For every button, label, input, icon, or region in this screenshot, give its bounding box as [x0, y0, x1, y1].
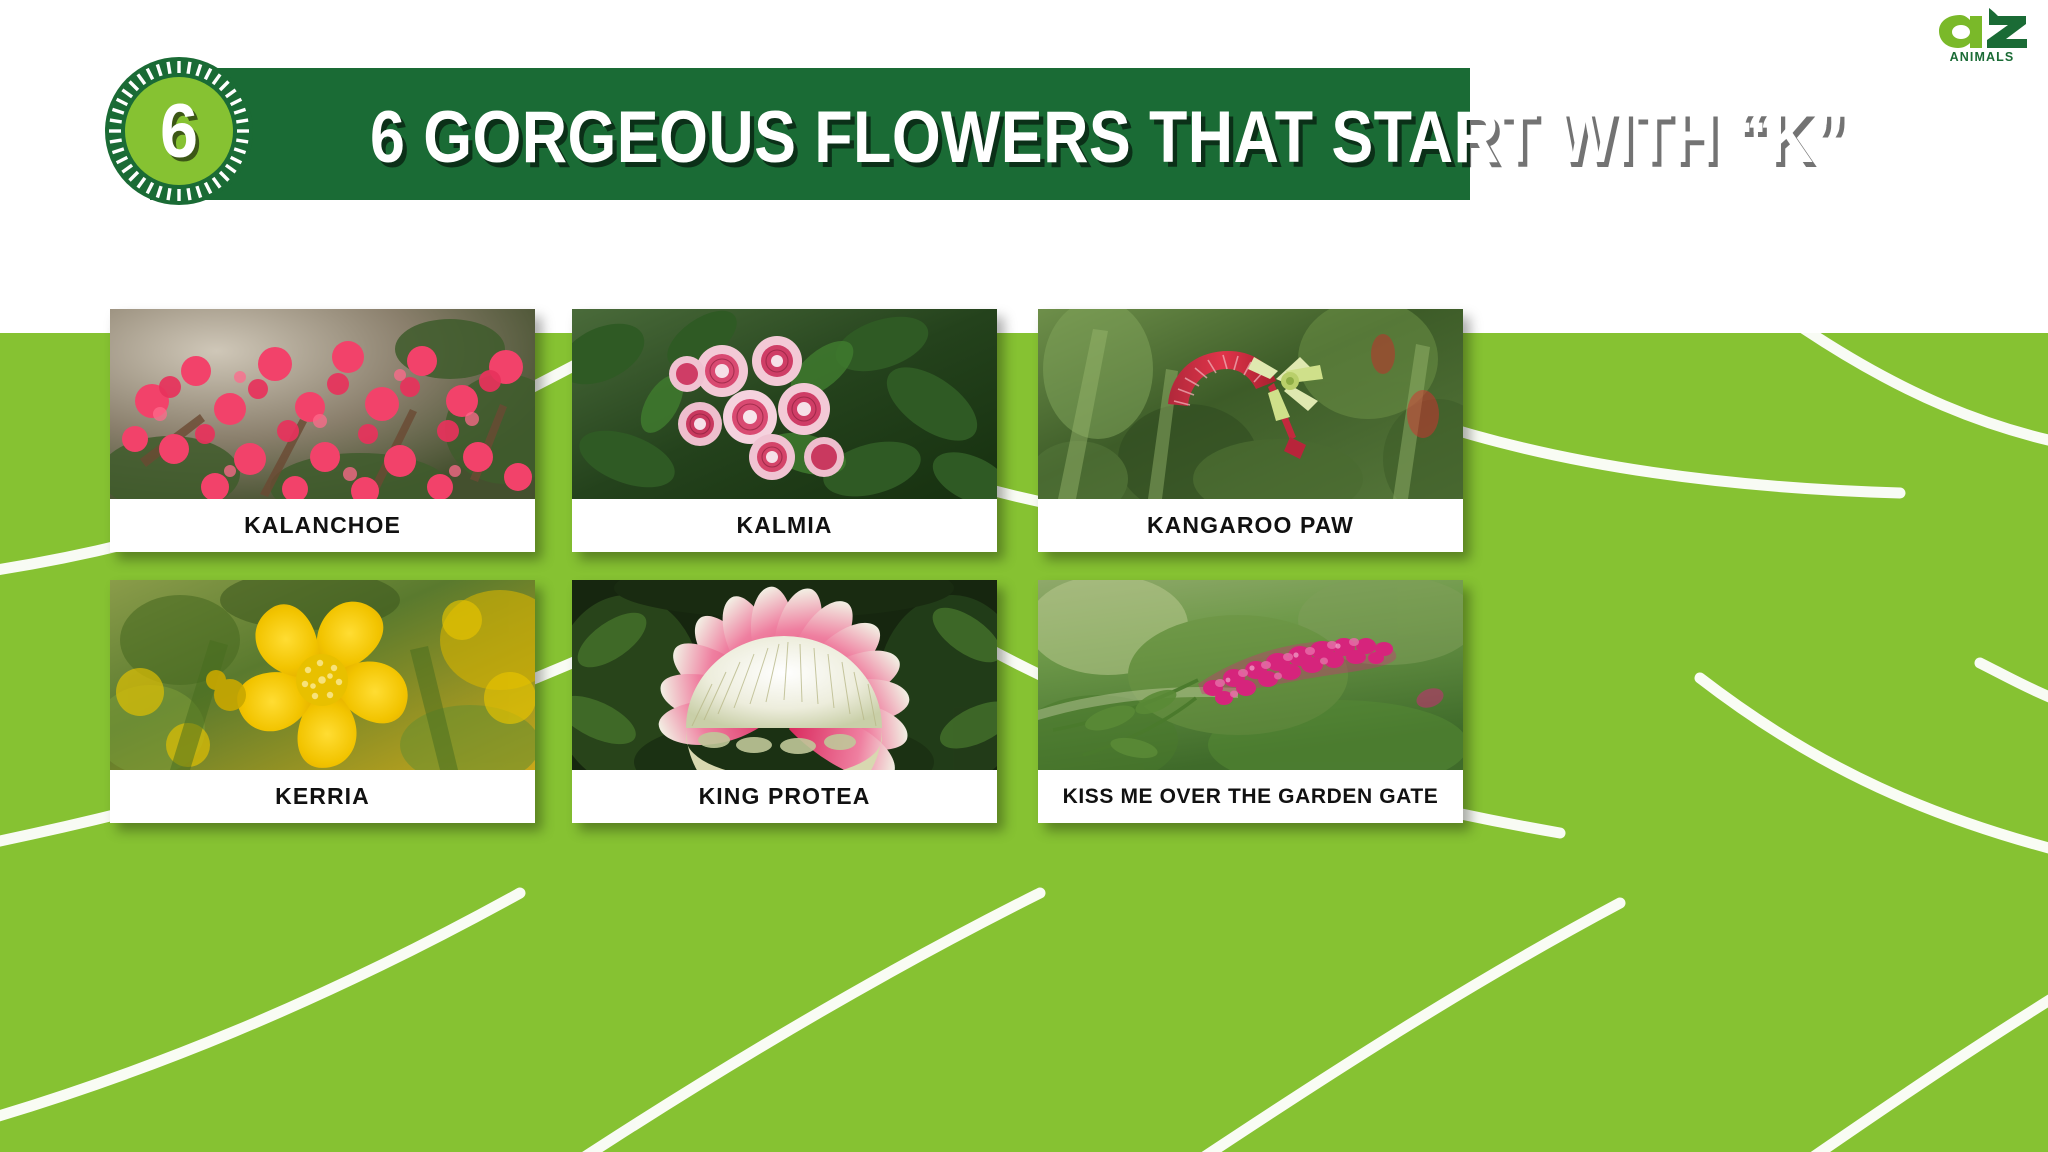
card-label-band: KERRIA — [110, 770, 535, 823]
king-protea-photo — [572, 580, 997, 770]
flower-card-kerria[interactable]: KERRIA — [110, 580, 535, 823]
kerria-photo — [110, 580, 535, 770]
flower-name-label: KALMIA — [736, 512, 832, 539]
flower-name-label: KING PROTEA — [699, 783, 871, 810]
infographic-root: 6 GORGEOUS FLOWERS THAT START WITH “K” — [0, 0, 2048, 1152]
flower-card-king-protea[interactable]: KING PROTEA — [572, 580, 997, 823]
az-logo-icon — [1930, 6, 2034, 52]
flower-name-label: KALANCHOE — [244, 512, 401, 539]
flower-card-kalmia[interactable]: KALMIA — [572, 309, 997, 552]
brand-logo[interactable]: ANIMALS — [1930, 6, 2034, 64]
az-logo-wordmark: ANIMALS — [1930, 50, 2034, 64]
card-label-band: KALANCHOE — [110, 499, 535, 552]
kalanchoe-photo — [110, 309, 535, 499]
kangaroo-paw-photo — [1038, 309, 1463, 499]
page-title: 6 GORGEOUS FLOWERS THAT START WITH “K” — [370, 92, 1325, 184]
flower-card-kiss-me-over-the-garden-gate[interactable]: KISS ME OVER THE GARDEN GATE — [1038, 580, 1463, 823]
count-badge: 6 — [103, 55, 255, 207]
flower-name-label: KISS ME OVER THE GARDEN GATE — [1063, 785, 1439, 809]
flower-name-label: KANGAROO PAW — [1147, 512, 1354, 539]
card-label-band: KISS ME OVER THE GARDEN GATE — [1038, 770, 1463, 823]
card-label-band: KING PROTEA — [572, 770, 997, 823]
flower-card-kalanchoe[interactable]: KALANCHOE — [110, 309, 535, 552]
kiss-me-over-the-garden-gate-photo — [1038, 580, 1463, 770]
flower-name-label: KERRIA — [275, 783, 370, 810]
kalmia-photo — [572, 309, 997, 499]
count-badge-number: 6 — [111, 55, 248, 207]
flower-card-kangaroo-paw[interactable]: KANGAROO PAW — [1038, 309, 1463, 552]
card-label-band: KALMIA — [572, 499, 997, 552]
card-label-band: KANGAROO PAW — [1038, 499, 1463, 552]
